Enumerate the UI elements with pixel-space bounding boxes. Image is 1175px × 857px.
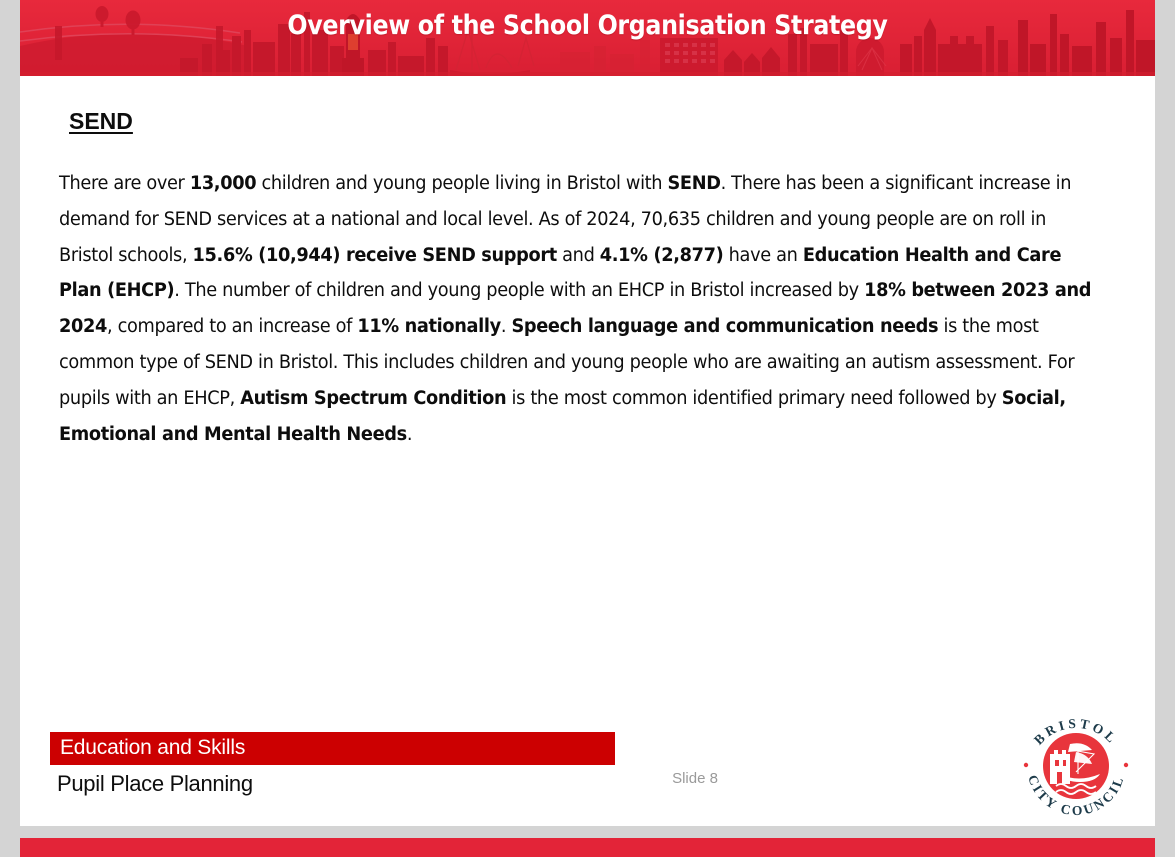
- paragraph-run-8: have an: [723, 245, 802, 266]
- next-slide-banner-sliver: [20, 838, 1155, 857]
- paragraph-run-20: .: [407, 424, 412, 445]
- paragraph-run-10: . The number of children and young peopl…: [174, 280, 864, 301]
- slide-header-banner: Overview of the School Organisation Stra…: [20, 0, 1155, 76]
- paragraph-run-6: and: [557, 245, 600, 266]
- paragraph-run-18: is the most common identified primary ne…: [506, 388, 1002, 409]
- paragraph-run-0: There are over: [59, 173, 190, 194]
- paragraph-run-14: .: [501, 316, 512, 337]
- paragraph-run-3: SEND: [667, 173, 720, 194]
- paragraph-run-12: , compared to an increase of: [107, 316, 357, 337]
- paragraph-run-17: Autism Spectrum Condition: [240, 388, 506, 409]
- bristol-city-council-logo: BRISTOL CITY COUNCIL: [1010, 708, 1142, 820]
- page-title: Overview of the School Organisation Stra…: [88, 10, 1087, 41]
- paragraph-run-2: children and young people living in Bris…: [256, 173, 667, 194]
- footer-bar-label: Education and Skills: [60, 735, 245, 761]
- paragraph-run-1: 13,000: [190, 173, 256, 194]
- slide-number: Slide 8: [645, 770, 745, 787]
- paragraph-run-15: Speech language and communication needs: [511, 316, 938, 337]
- footer-red-bar: Education and Skills: [50, 732, 615, 765]
- slide-canvas: Overview of the School Organisation Stra…: [20, 0, 1155, 826]
- paragraph-run-13: 11% nationally: [357, 316, 500, 337]
- paragraph-run-7: 4.1% (2,877): [600, 245, 724, 266]
- paragraph-run-5: 15.6% (10,944) receive SEND support: [193, 245, 557, 266]
- footer-subtitle: Pupil Place Planning: [57, 771, 253, 797]
- section-heading-send: SEND: [69, 108, 133, 135]
- body-paragraph: There are over 13,000 children and young…: [59, 166, 1100, 452]
